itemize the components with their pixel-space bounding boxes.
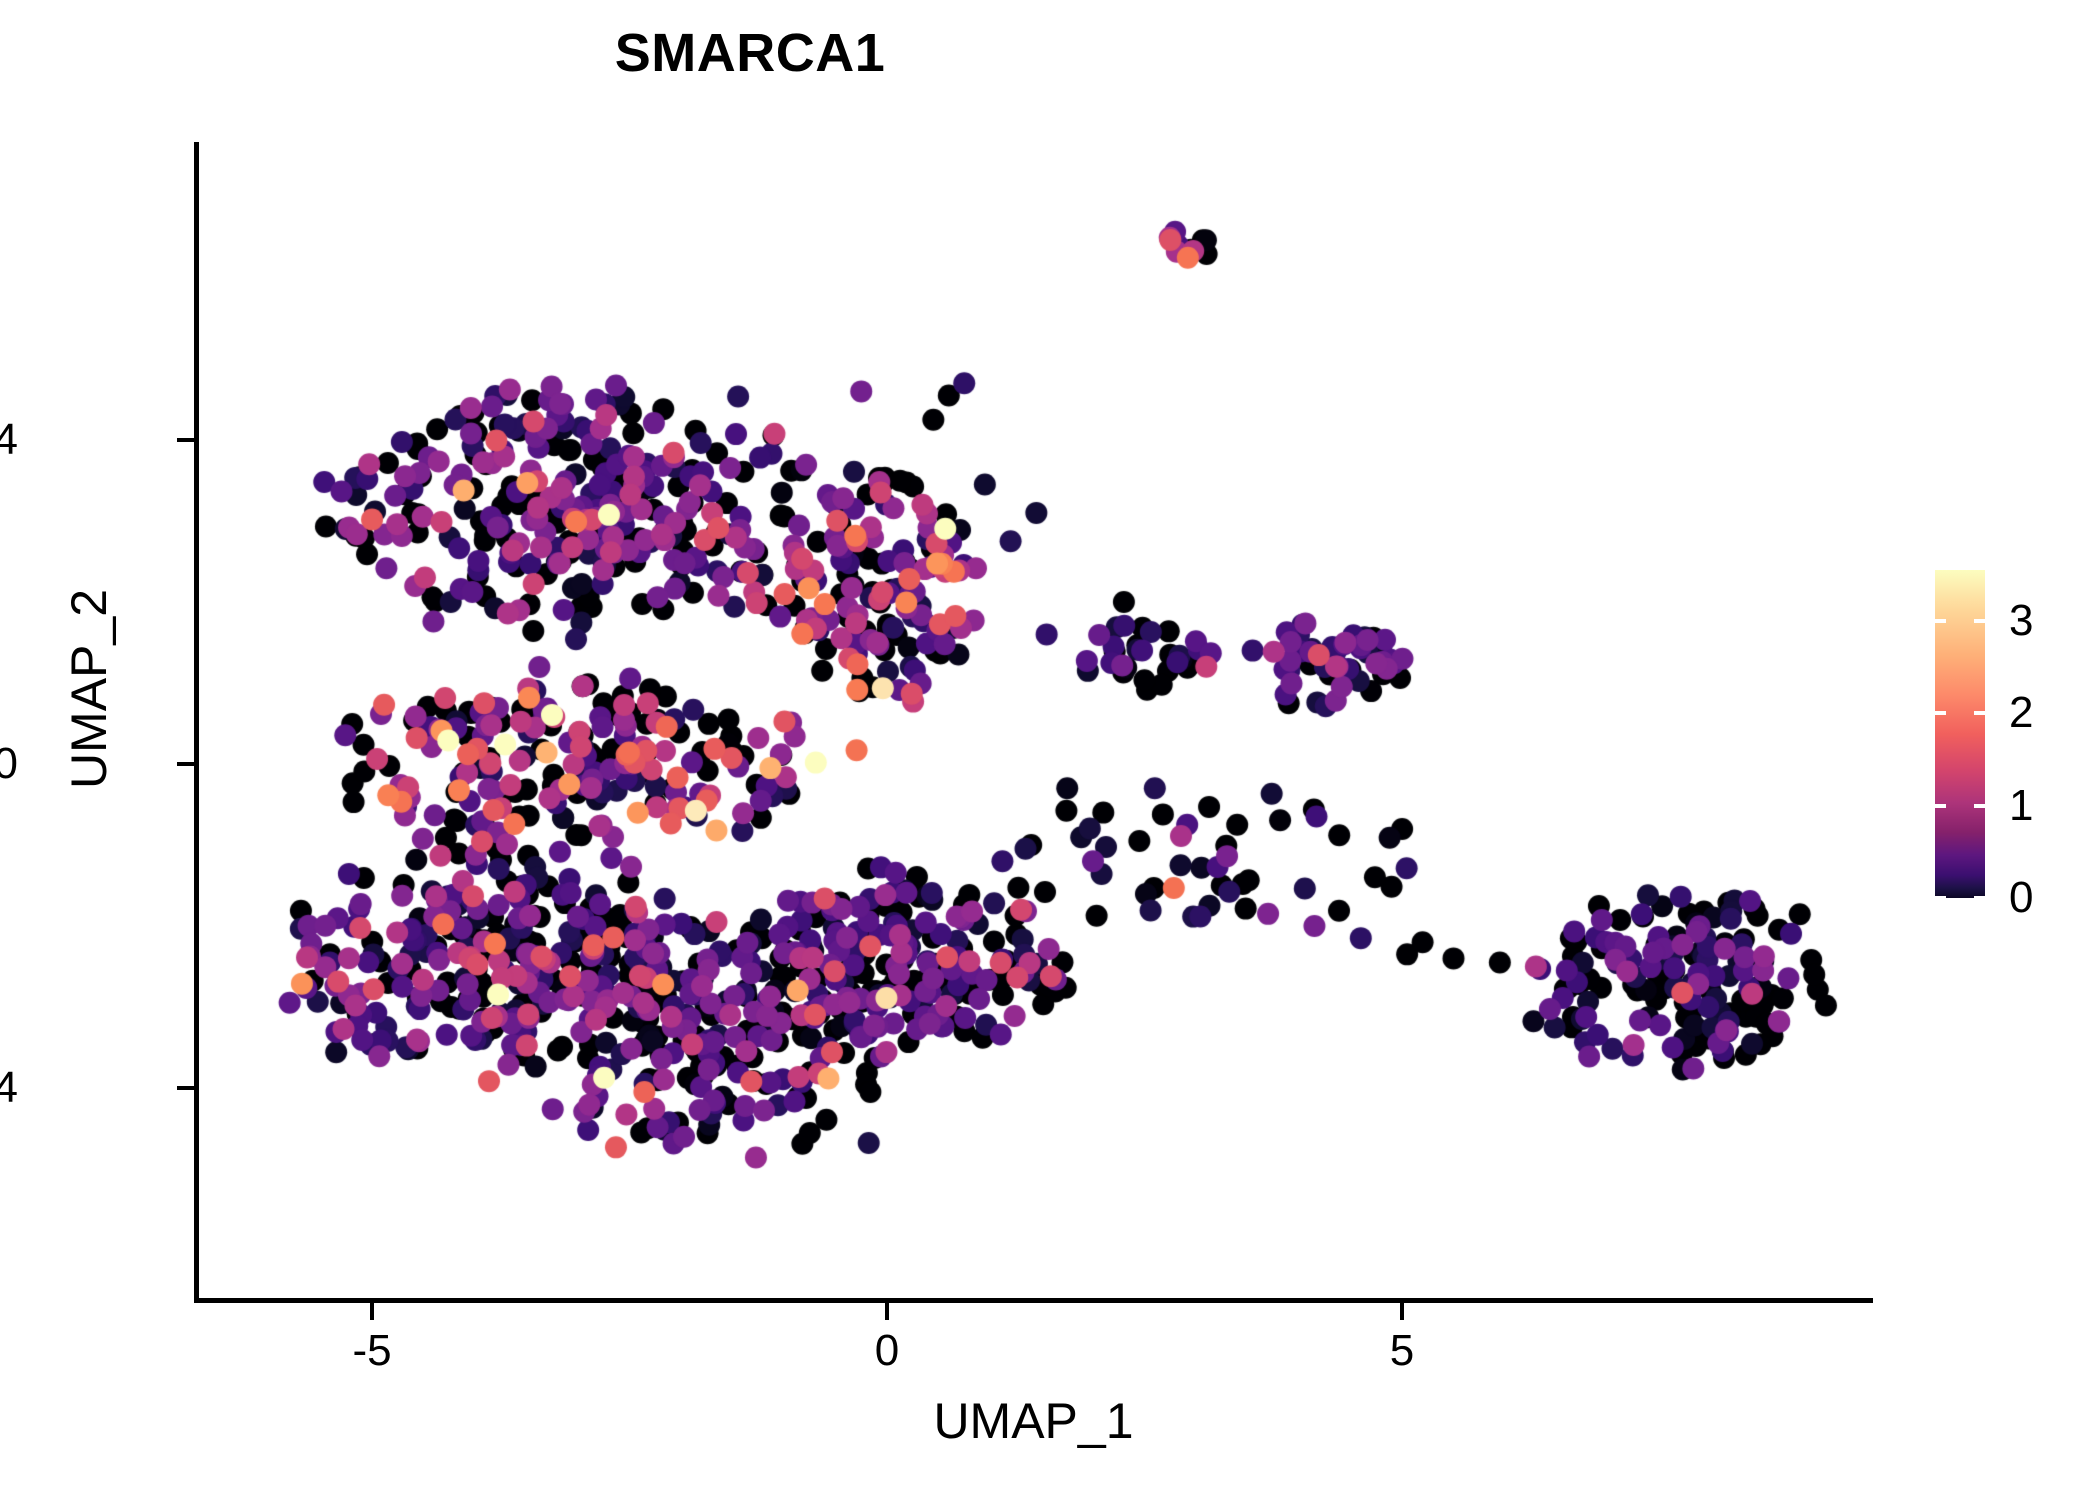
x-axis-line [194,1298,1873,1303]
y-axis-title: UMAP_2 [60,289,118,1089]
y-tick-label: 0 [0,739,18,789]
y-axis-line [194,142,199,1303]
x-tick-mark [1400,1303,1404,1320]
colorbar-tick [1974,619,1985,623]
x-tick-mark [885,1303,889,1320]
y-tick-label: 4 [0,415,18,465]
colorbar-tick-label: 2 [2009,688,2033,738]
y-tick-mark [177,762,194,766]
colorbar-tick [1935,804,1946,808]
y-tick-mark [177,1086,194,1090]
colorbar-tick [1935,896,1946,900]
colorbar-tick [1974,804,1985,808]
colorbar-tick [1935,619,1946,623]
colorbar-tick [1935,711,1946,715]
x-tick-label: 5 [1390,1326,1414,1376]
colorbar-tick [1974,896,1985,900]
y-tick-label: -4 [0,1063,18,1113]
colorbar-tick [1974,711,1985,715]
x-tick-label: -5 [352,1326,391,1376]
x-tick-label: 0 [875,1326,899,1376]
x-axis-title: UMAP_1 [194,1392,1873,1450]
scatter-plot-canvas [0,0,2100,1500]
colorbar-tick-label: 0 [2009,873,2033,923]
x-tick-mark [370,1303,374,1320]
colorbar-legend: 3210 [1935,570,2095,910]
colorbar-tick-label: 3 [2009,596,2033,646]
colorbar-tick-label: 1 [2009,781,2033,831]
y-tick-mark [177,438,194,442]
umap-feature-plot: SMARCA1 -404-505 UMAP_1 UMAP_2 3210 [0,0,2100,1500]
